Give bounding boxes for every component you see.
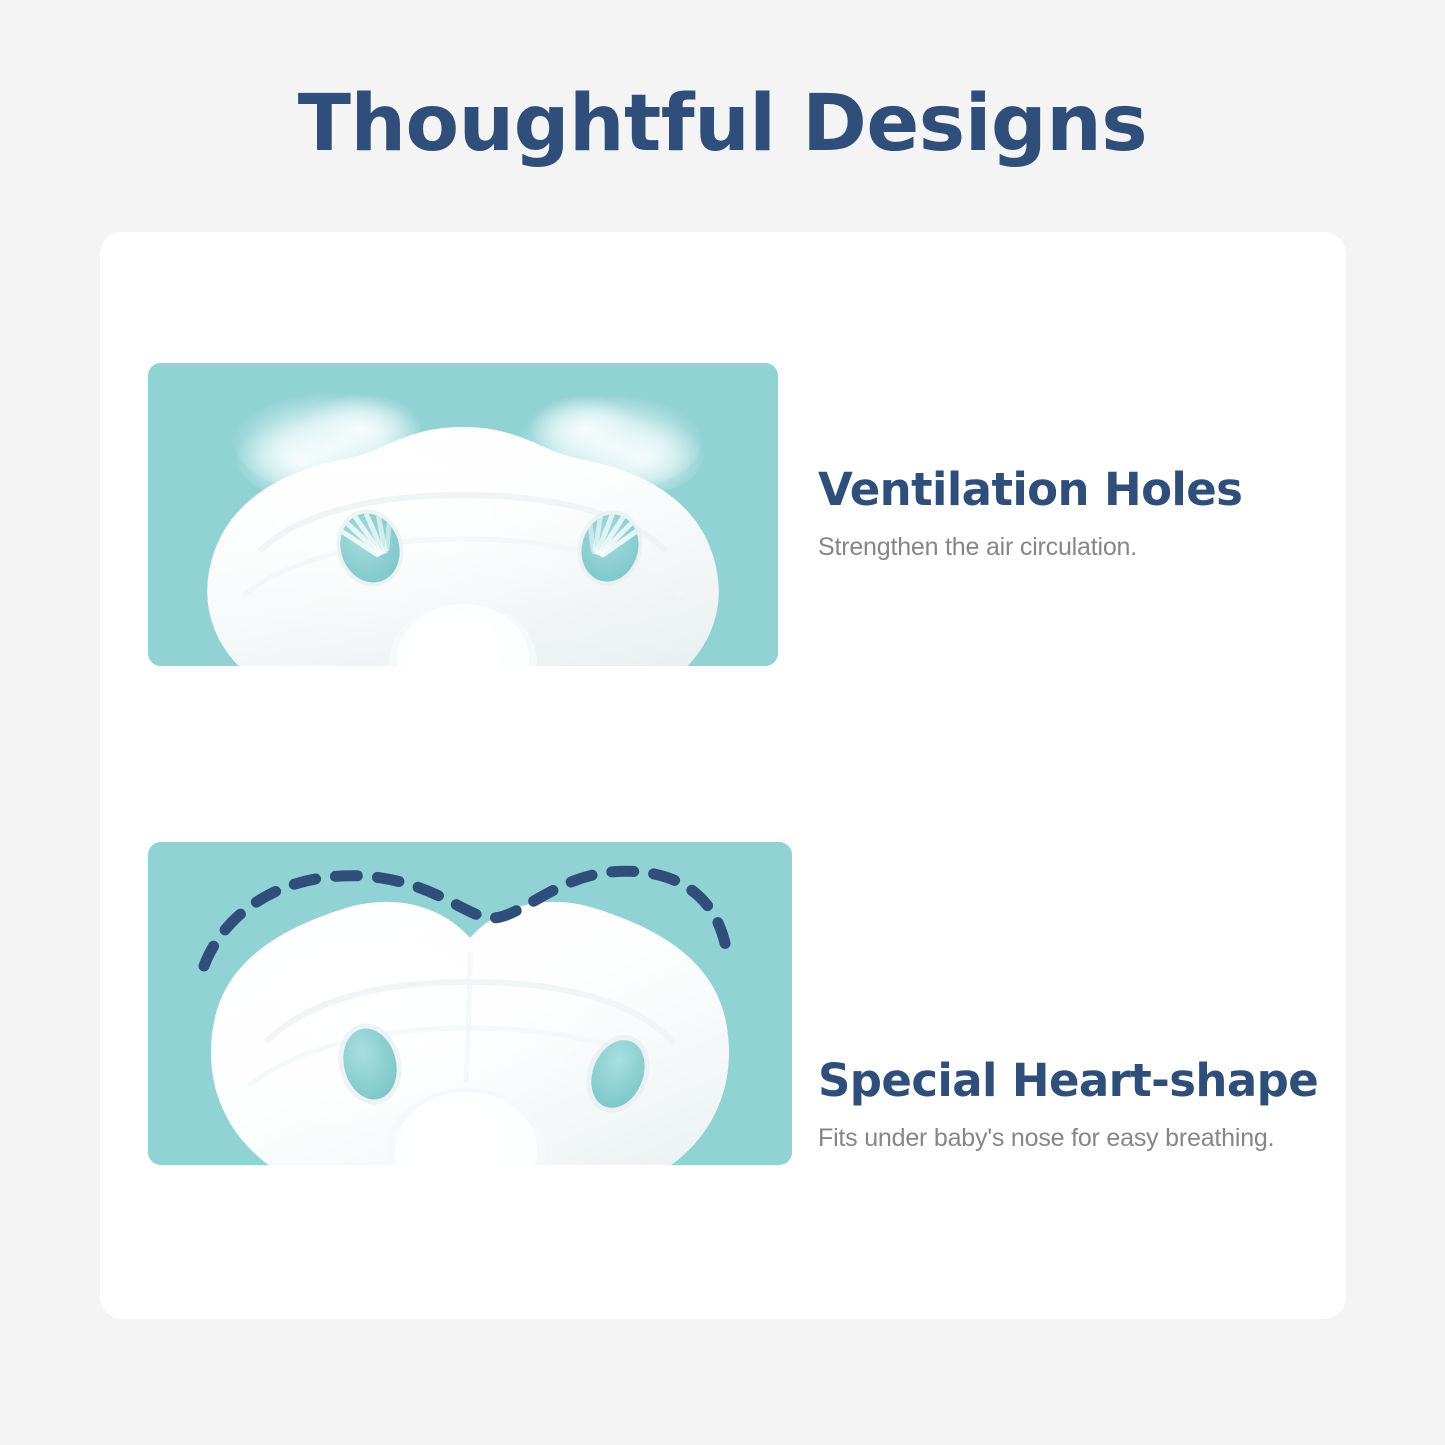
pacifier-heartshape-illustration xyxy=(148,842,792,1165)
feature-text-special-heart-shape: Special Heart-shape Fits under baby's no… xyxy=(818,1054,1338,1154)
features-card: Ventilation Holes Strengthen the air cir… xyxy=(100,232,1346,1319)
feature-description: Strengthen the air circulation. xyxy=(818,531,1338,563)
page-title: Thoughtful Designs xyxy=(0,78,1445,170)
feature-description: Fits under baby's nose for easy breathin… xyxy=(818,1122,1338,1154)
promo-page: Thoughtful Designs xyxy=(0,0,1445,1445)
feature-title: Special Heart-shape xyxy=(818,1054,1338,1108)
feature-text-ventilation-holes: Ventilation Holes Strengthen the air cir… xyxy=(818,463,1338,563)
feature-title: Ventilation Holes xyxy=(818,463,1338,517)
pacifier-icon xyxy=(211,902,729,1165)
feature-image-special-heart-shape xyxy=(148,842,792,1165)
feature-image-ventilation-holes xyxy=(148,363,778,666)
pacifier-ventilation-illustration xyxy=(148,363,778,666)
